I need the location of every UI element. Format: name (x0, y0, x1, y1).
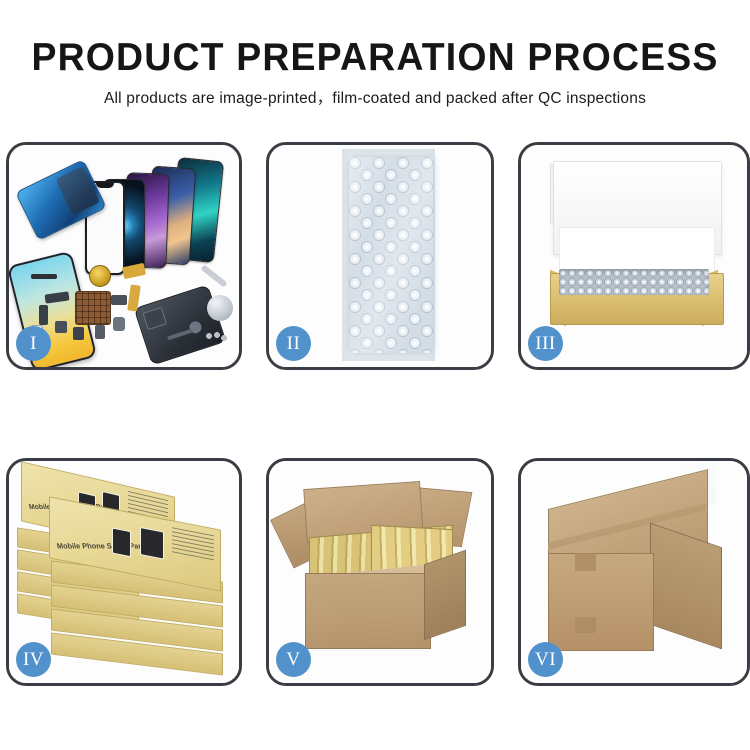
screw-tray-icon (75, 291, 111, 325)
box-spec-lines-front (172, 527, 214, 561)
step-badge-1: I (16, 326, 51, 361)
process-step-panel-4: Mobile Phone Spare Parts Mobile Phone Sp… (6, 458, 242, 686)
process-step-panel-1: I (6, 142, 242, 370)
small-component-icon-4 (113, 317, 125, 331)
wrap-gloss-overlay (349, 157, 433, 353)
retail-box-stack-icon: Mobile Phone Spare Parts Mobile Phone Sp… (15, 475, 223, 673)
step-badge-6: VI (528, 642, 563, 677)
small-component-icon-3 (95, 325, 105, 339)
process-step-grid: I II III (0, 140, 750, 700)
sealed-carton-side (650, 523, 722, 650)
sealed-carton-front (548, 553, 654, 651)
process-step-panel-3: III (518, 142, 750, 370)
process-step-panel-6: VI (518, 458, 750, 686)
tweezers-icon (200, 264, 227, 287)
step-badge-3: III (528, 326, 563, 361)
phone-notch-icon (96, 183, 114, 188)
step-badge-2: II (276, 326, 311, 361)
process-step-panel-2: II (266, 142, 494, 370)
carton-side-face (424, 550, 466, 640)
page-subtitle: All products are image-printed，film-coat… (0, 86, 750, 108)
header: PRODUCT PREPARATION PROCESS All products… (0, 0, 750, 120)
step-badge-5: V (276, 642, 311, 677)
process-step-panel-5: V (266, 458, 494, 686)
carton-hand-hole-2 (575, 617, 595, 633)
box-screen-image-4 (140, 527, 164, 560)
page-title: PRODUCT PREPARATION PROCESS (15, 36, 735, 80)
retail-box-label-front: Mobile Phone Spare Parts (56, 542, 149, 551)
product-preparation-process-page: PRODUCT PREPARATION PROCESS All products… (0, 0, 750, 750)
repair-tool-icon (207, 295, 233, 321)
small-component-icon-2 (73, 327, 84, 340)
earpiece-mesh-icon (31, 274, 57, 279)
phone-display-fan-icon (87, 157, 237, 267)
copper-coil-icon (89, 265, 111, 287)
carton-front-face (305, 573, 431, 649)
bubble-wrapped-contents-icon (559, 269, 708, 295)
box-screen-image-3 (112, 528, 131, 558)
step-badge-4: IV (16, 642, 51, 677)
camera-module-icon (142, 307, 167, 330)
connector-icon (167, 329, 193, 341)
screws-icon (205, 331, 227, 341)
carton-hand-hole-1 (575, 553, 595, 571)
small-component-icon-5 (111, 295, 127, 305)
flex-cable-icon-4 (39, 305, 48, 325)
small-component-icon-1 (55, 321, 67, 333)
